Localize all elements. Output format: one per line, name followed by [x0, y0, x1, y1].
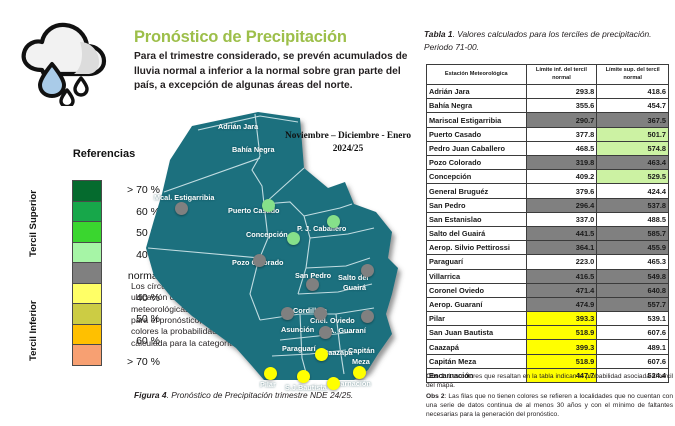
cell-inf: 290.7: [526, 113, 597, 127]
table-row: San Pedro296.4537.8: [427, 198, 669, 212]
station-dot-14[interactable]: [327, 377, 340, 390]
station-dot-9[interactable]: [361, 310, 374, 323]
legend-swatch-4: [72, 262, 102, 284]
station-dot-3[interactable]: [287, 232, 300, 245]
forecast-description: Para el trimestre considerado, se prevén…: [134, 50, 412, 93]
table-row: Aerop. Guaraní474.9557.7: [427, 297, 669, 311]
cell-inf: 393.3: [526, 312, 597, 326]
cell-sup: 549.8: [597, 269, 669, 283]
observation-1: Obs 1: Los colores que resaltan en la ta…: [426, 372, 673, 391]
table-caption-label: Tabla 1: [424, 29, 453, 39]
cell-sup: 418.6: [597, 85, 669, 99]
cell-sup: 607.6: [597, 326, 669, 340]
cell-inf: 355.6: [526, 99, 597, 113]
station-dot-1[interactable]: [262, 199, 275, 212]
cell-station: Puerto Casado: [427, 127, 527, 141]
station-dot-11[interactable]: [315, 348, 328, 361]
table-row: Paraguarí223.0465.3: [427, 255, 669, 269]
cell-station: Coronel Oviedo: [427, 283, 527, 297]
cell-station: General Bruguéz: [427, 184, 527, 198]
obs2-text: : Las filas que no tienen colores se ref…: [426, 393, 673, 419]
station-dot-0[interactable]: [175, 202, 188, 215]
cell-inf: 518.9: [526, 326, 597, 340]
station-dot-15[interactable]: [353, 366, 366, 379]
observation-2: Obs 2: Las filas que no tienen colores s…: [426, 392, 673, 420]
legend-swatch-0: [72, 180, 102, 202]
cell-station: Pilar: [427, 312, 527, 326]
station-dot-12[interactable]: [264, 367, 277, 380]
forecast-period: Noviembre – Diciembre - Enero 2024/25: [278, 130, 418, 157]
page-title: Pronóstico de Precipitación: [134, 28, 412, 46]
cell-sup: 463.4: [597, 156, 669, 170]
col-header-station: Estación Meteorológica: [427, 65, 527, 85]
legend-swatch-2: [72, 221, 102, 243]
cell-station: Adrián Jara: [427, 85, 527, 99]
table-row: Caazapá399.3489.1: [427, 340, 669, 354]
table-caption: Tabla 1. Valores calculados para los ter…: [424, 28, 672, 53]
cell-sup: 465.3: [597, 255, 669, 269]
cell-station: Villarrica: [427, 269, 527, 283]
table-header-row: Estación Meteorológica Límite inf. del t…: [427, 65, 669, 85]
left-panel: Pronóstico de Precipitación Para el trim…: [0, 0, 420, 426]
table-row: Villarrica416.5549.8: [427, 269, 669, 283]
cell-inf: 399.3: [526, 340, 597, 354]
upper-tercile-label: Tercil Superior: [28, 181, 42, 267]
station-dot-10[interactable]: [319, 326, 332, 339]
precipitation-forecast-page: Pronóstico de Precipitación Para el trim…: [0, 0, 675, 426]
table-row: San Juan Bautista518.9607.6: [427, 326, 669, 340]
station-dot-7[interactable]: [281, 307, 294, 320]
forecast-title-block: Pronóstico de Precipitación Para el trim…: [134, 28, 412, 94]
cell-station: Aerop. Guaraní: [427, 297, 527, 311]
legend-swatch-5: [72, 283, 102, 305]
cell-inf: 468.5: [526, 141, 597, 155]
cell-sup: 557.7: [597, 297, 669, 311]
cell-station: Pedro Juan Caballero: [427, 141, 527, 155]
cell-sup: 537.8: [597, 198, 669, 212]
observations: Obs 1: Los colores que resaltan en la ta…: [426, 372, 673, 421]
cell-inf: 379.6: [526, 184, 597, 198]
cell-sup: 640.8: [597, 283, 669, 297]
table-row: Bahía Negra355.6454.7: [427, 99, 669, 113]
cell-station: Bahía Negra: [427, 99, 527, 113]
cell-sup: 489.1: [597, 340, 669, 354]
legend-swatch-3: [72, 242, 102, 264]
cell-inf: 223.0: [526, 255, 597, 269]
figure-caption: Figura 4. Pronóstico de Precipitación tr…: [134, 390, 414, 400]
terciles-table: Estación Meteorológica Límite inf. del t…: [426, 64, 669, 383]
obs2-label: Obs 2: [426, 393, 445, 400]
cell-sup: 501.7: [597, 127, 669, 141]
station-dot-8[interactable]: [314, 307, 327, 320]
cell-inf: 377.8: [526, 127, 597, 141]
table-caption-text: . Valores calculados para los terciles d…: [424, 29, 652, 52]
cell-station: Mariscal Estigarribia: [427, 113, 527, 127]
cell-sup: 585.7: [597, 226, 669, 240]
cell-station: Caazapá: [427, 340, 527, 354]
cell-inf: 471.4: [526, 283, 597, 297]
cell-inf: 409.2: [526, 170, 597, 184]
station-dot-6[interactable]: [361, 264, 374, 277]
table-row: Puerto Casado377.8501.7: [427, 127, 669, 141]
cell-station: San Juan Bautista: [427, 326, 527, 340]
cell-sup: 529.5: [597, 170, 669, 184]
right-panel: Tabla 1. Valores calculados para los ter…: [424, 0, 675, 426]
cell-station: Pozo Colorado: [427, 156, 527, 170]
period-line-2: 2024/25: [333, 144, 363, 154]
table-head: Estación Meteorológica Límite inf. del t…: [427, 65, 669, 85]
period-line-1: Noviembre – Diciembre - Enero: [285, 131, 411, 141]
table-row: Adrián Jara293.8418.6: [427, 85, 669, 99]
legend-swatch-1: [72, 201, 102, 223]
cell-inf: 364.1: [526, 241, 597, 255]
cell-station: Salto del Guairá: [427, 226, 527, 240]
legend-swatch-6: [72, 303, 102, 325]
table-row: Pilar393.3539.1: [427, 312, 669, 326]
cell-station: Aerop. Silvio Pettirossi: [427, 241, 527, 255]
cell-sup: 367.5: [597, 113, 669, 127]
cell-inf: 319.8: [526, 156, 597, 170]
map-label-19: Pilar: [260, 380, 276, 389]
table-row: San Estanislao337.0488.5: [427, 212, 669, 226]
table-row: Coronel Oviedo471.4640.8: [427, 283, 669, 297]
station-dot-5[interactable]: [306, 278, 319, 291]
cell-sup: 454.7: [597, 99, 669, 113]
cell-station: San Estanislao: [427, 212, 527, 226]
cell-inf: 337.0: [526, 212, 597, 226]
cell-sup: 574.8: [597, 141, 669, 155]
table-row: Pedro Juan Caballero468.5574.8: [427, 141, 669, 155]
legend-swatches: [72, 180, 102, 365]
table-row: Pozo Colorado319.8463.4: [427, 156, 669, 170]
table-row: General Bruguéz379.6424.4: [427, 184, 669, 198]
cell-station: San Pedro: [427, 198, 527, 212]
table-row: Concepción409.2529.5: [427, 170, 669, 184]
figure-caption-label: Figura 4: [134, 390, 167, 400]
cell-sup: 607.6: [597, 354, 669, 368]
table-row: Capitán Meza518.9607.6: [427, 354, 669, 368]
legend-swatch-7: [72, 324, 102, 346]
table-row: Salto del Guairá441.5585.7: [427, 226, 669, 240]
rain-cloud-icon: [18, 20, 110, 106]
cell-station: Concepción: [427, 170, 527, 184]
table-row: Aerop. Silvio Pettirossi364.1455.9: [427, 241, 669, 255]
table-body: Adrián Jara293.8418.6Bahía Negra355.6454…: [427, 85, 669, 383]
cell-inf: 441.5: [526, 226, 597, 240]
obs1-label: Obs 1: [426, 373, 445, 380]
obs1-text: : Los colores que resaltan en la tabla i…: [426, 373, 673, 389]
station-dot-4[interactable]: [253, 254, 266, 267]
cell-inf: 416.5: [526, 269, 597, 283]
station-dot-13[interactable]: [297, 370, 310, 383]
cell-sup: 455.9: [597, 241, 669, 255]
col-header-inf: Límite inf. del tercil normal: [526, 65, 597, 85]
cell-inf: 293.8: [526, 85, 597, 99]
cell-inf: 474.9: [526, 297, 597, 311]
legend-swatch-8: [72, 344, 102, 366]
cell-station: Capitán Meza: [427, 354, 527, 368]
cell-sup: 539.1: [597, 312, 669, 326]
cell-station: Paraguarí: [427, 255, 527, 269]
figure-caption-text: . Pronóstico de Precipitación trimestre …: [167, 390, 354, 400]
station-dot-2[interactable]: [327, 215, 340, 228]
lower-tercile-label: Tercil Inferior: [28, 288, 42, 374]
cell-inf: 518.9: [526, 354, 597, 368]
col-header-sup: Límite sup. del tercil normal: [597, 65, 669, 85]
cell-sup: 488.5: [597, 212, 669, 226]
cell-sup: 424.4: [597, 184, 669, 198]
table-row: Mariscal Estigarribia290.7367.5: [427, 113, 669, 127]
cell-inf: 296.4: [526, 198, 597, 212]
